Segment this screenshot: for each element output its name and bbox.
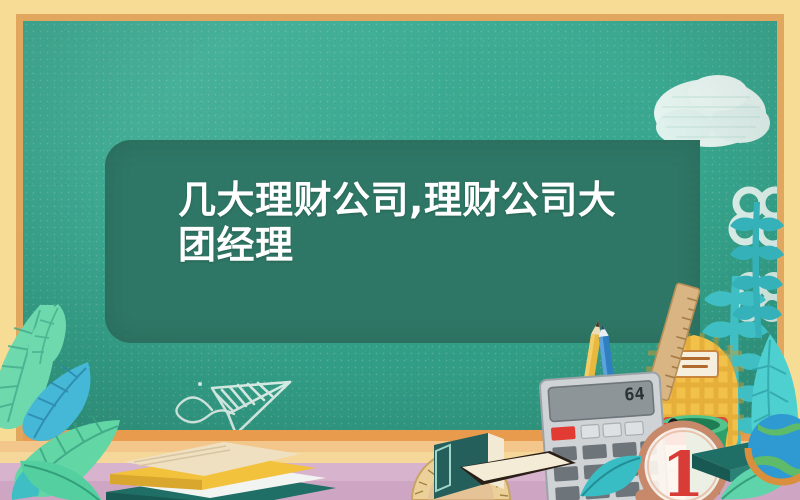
fern-right-upper — [718, 200, 798, 345]
page-title: 几大理财公司,理财公司大 团经理 — [178, 178, 648, 268]
globe — [742, 400, 800, 500]
book-dark-right — [430, 425, 580, 500]
leaf-accent-left — [18, 300, 88, 375]
page-title-line-2: 团经理 — [178, 223, 648, 268]
poster-canvas: 几大理财公司,理财公司大 团经理 — [0, 0, 800, 500]
calculator-display: 64 — [624, 384, 646, 405]
page-title-line-1: 几大理财公司,理财公司大 — [178, 178, 648, 223]
book-stack-left — [100, 432, 340, 500]
leaf-desk-teal — [576, 452, 646, 500]
leaf-desk-left — [16, 455, 106, 500]
